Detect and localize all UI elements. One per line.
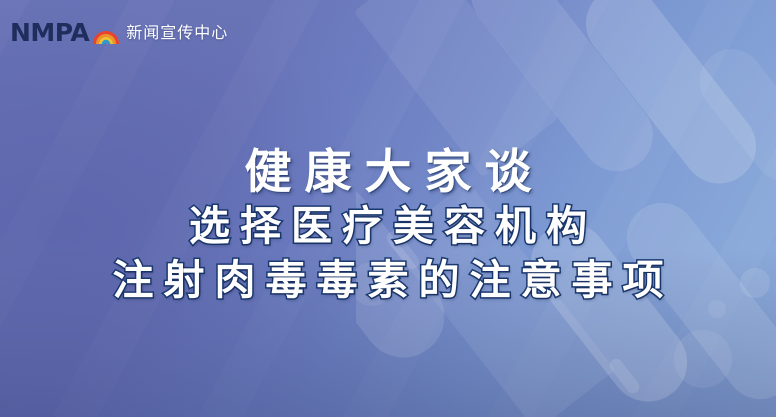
program-title: 健康大家谈 [0, 148, 776, 199]
rainbow-arc-icon [93, 21, 119, 45]
subject-line-1: 选择医疗美容机构 [0, 199, 776, 253]
nmpa-logo: NMPA 新闻宣传中心 [10, 20, 228, 45]
nmpa-center-name: 新闻宣传中心 [126, 25, 228, 41]
title-card: NMPA 新闻宣传中心 健康大家谈 选择医疗美容机构 注射肉毒毒素的注意事项 [0, 0, 776, 417]
decorative-circle [674, 330, 732, 388]
title-block: 健康大家谈 选择医疗美容机构 注射肉毒毒素的注意事项 [0, 148, 776, 307]
nmpa-wordmark: NMPA [10, 20, 89, 45]
subject-line-2: 注射肉毒毒素的注意事项 [0, 253, 776, 307]
